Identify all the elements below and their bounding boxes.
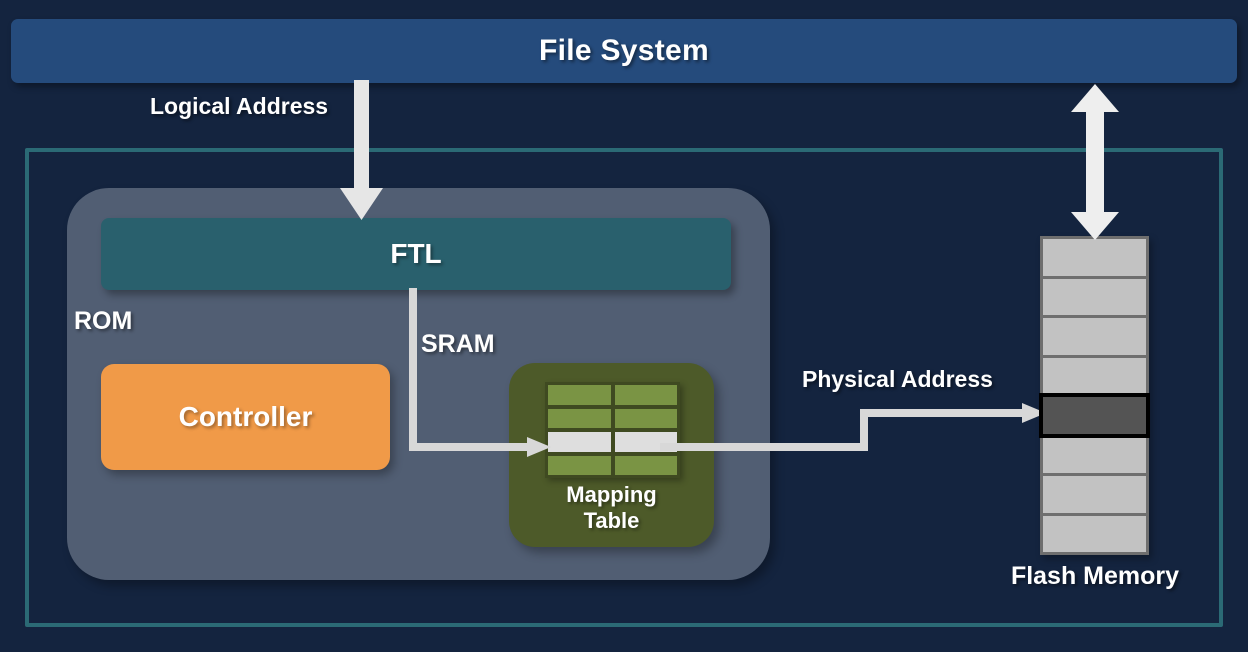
mapping-table-caption-line2: Table <box>509 508 714 534</box>
controller-block[interactable]: Controller <box>101 364 390 470</box>
ftl-block[interactable]: FTL <box>101 218 731 290</box>
ftl-label: FTL <box>390 238 441 270</box>
controller-label: Controller <box>179 401 313 433</box>
ftl-architecture-diagram: File System FTL ROM Controller SRAM Mapp… <box>0 0 1248 652</box>
file-system-label: File System <box>539 34 709 68</box>
file-system-block[interactable]: File System <box>11 19 1237 83</box>
mapping-cell <box>615 409 678 429</box>
flash-memory-label: Flash Memory <box>960 562 1230 591</box>
sram-label: SRAM <box>421 330 495 359</box>
mapping-cell <box>615 456 678 476</box>
logical-address-label: Logical Address <box>150 93 328 120</box>
flash-block <box>1043 279 1146 316</box>
flash-block <box>1043 516 1146 553</box>
flash-block <box>1043 437 1146 474</box>
rom-label: ROM <box>74 307 132 336</box>
mapping-cell <box>548 385 611 405</box>
mapping-cell <box>548 456 611 476</box>
flash-block <box>1043 239 1146 276</box>
flash-block <box>1043 358 1146 395</box>
physical-address-label: Physical Address <box>802 366 993 393</box>
flash-block <box>1043 476 1146 513</box>
mapping-cell <box>548 409 611 429</box>
mapping-table-caption: Mapping Table <box>509 482 714 533</box>
flash-block <box>1043 318 1146 355</box>
flash-block-target <box>1043 397 1146 434</box>
mapping-cell <box>615 385 678 405</box>
mapping-cell-highlighted <box>548 432 611 452</box>
mapping-cell-highlighted <box>615 432 678 452</box>
flash-memory-stack[interactable] <box>1040 236 1149 555</box>
mapping-table-caption-line1: Mapping <box>509 482 714 508</box>
mapping-table-grid <box>545 382 680 478</box>
